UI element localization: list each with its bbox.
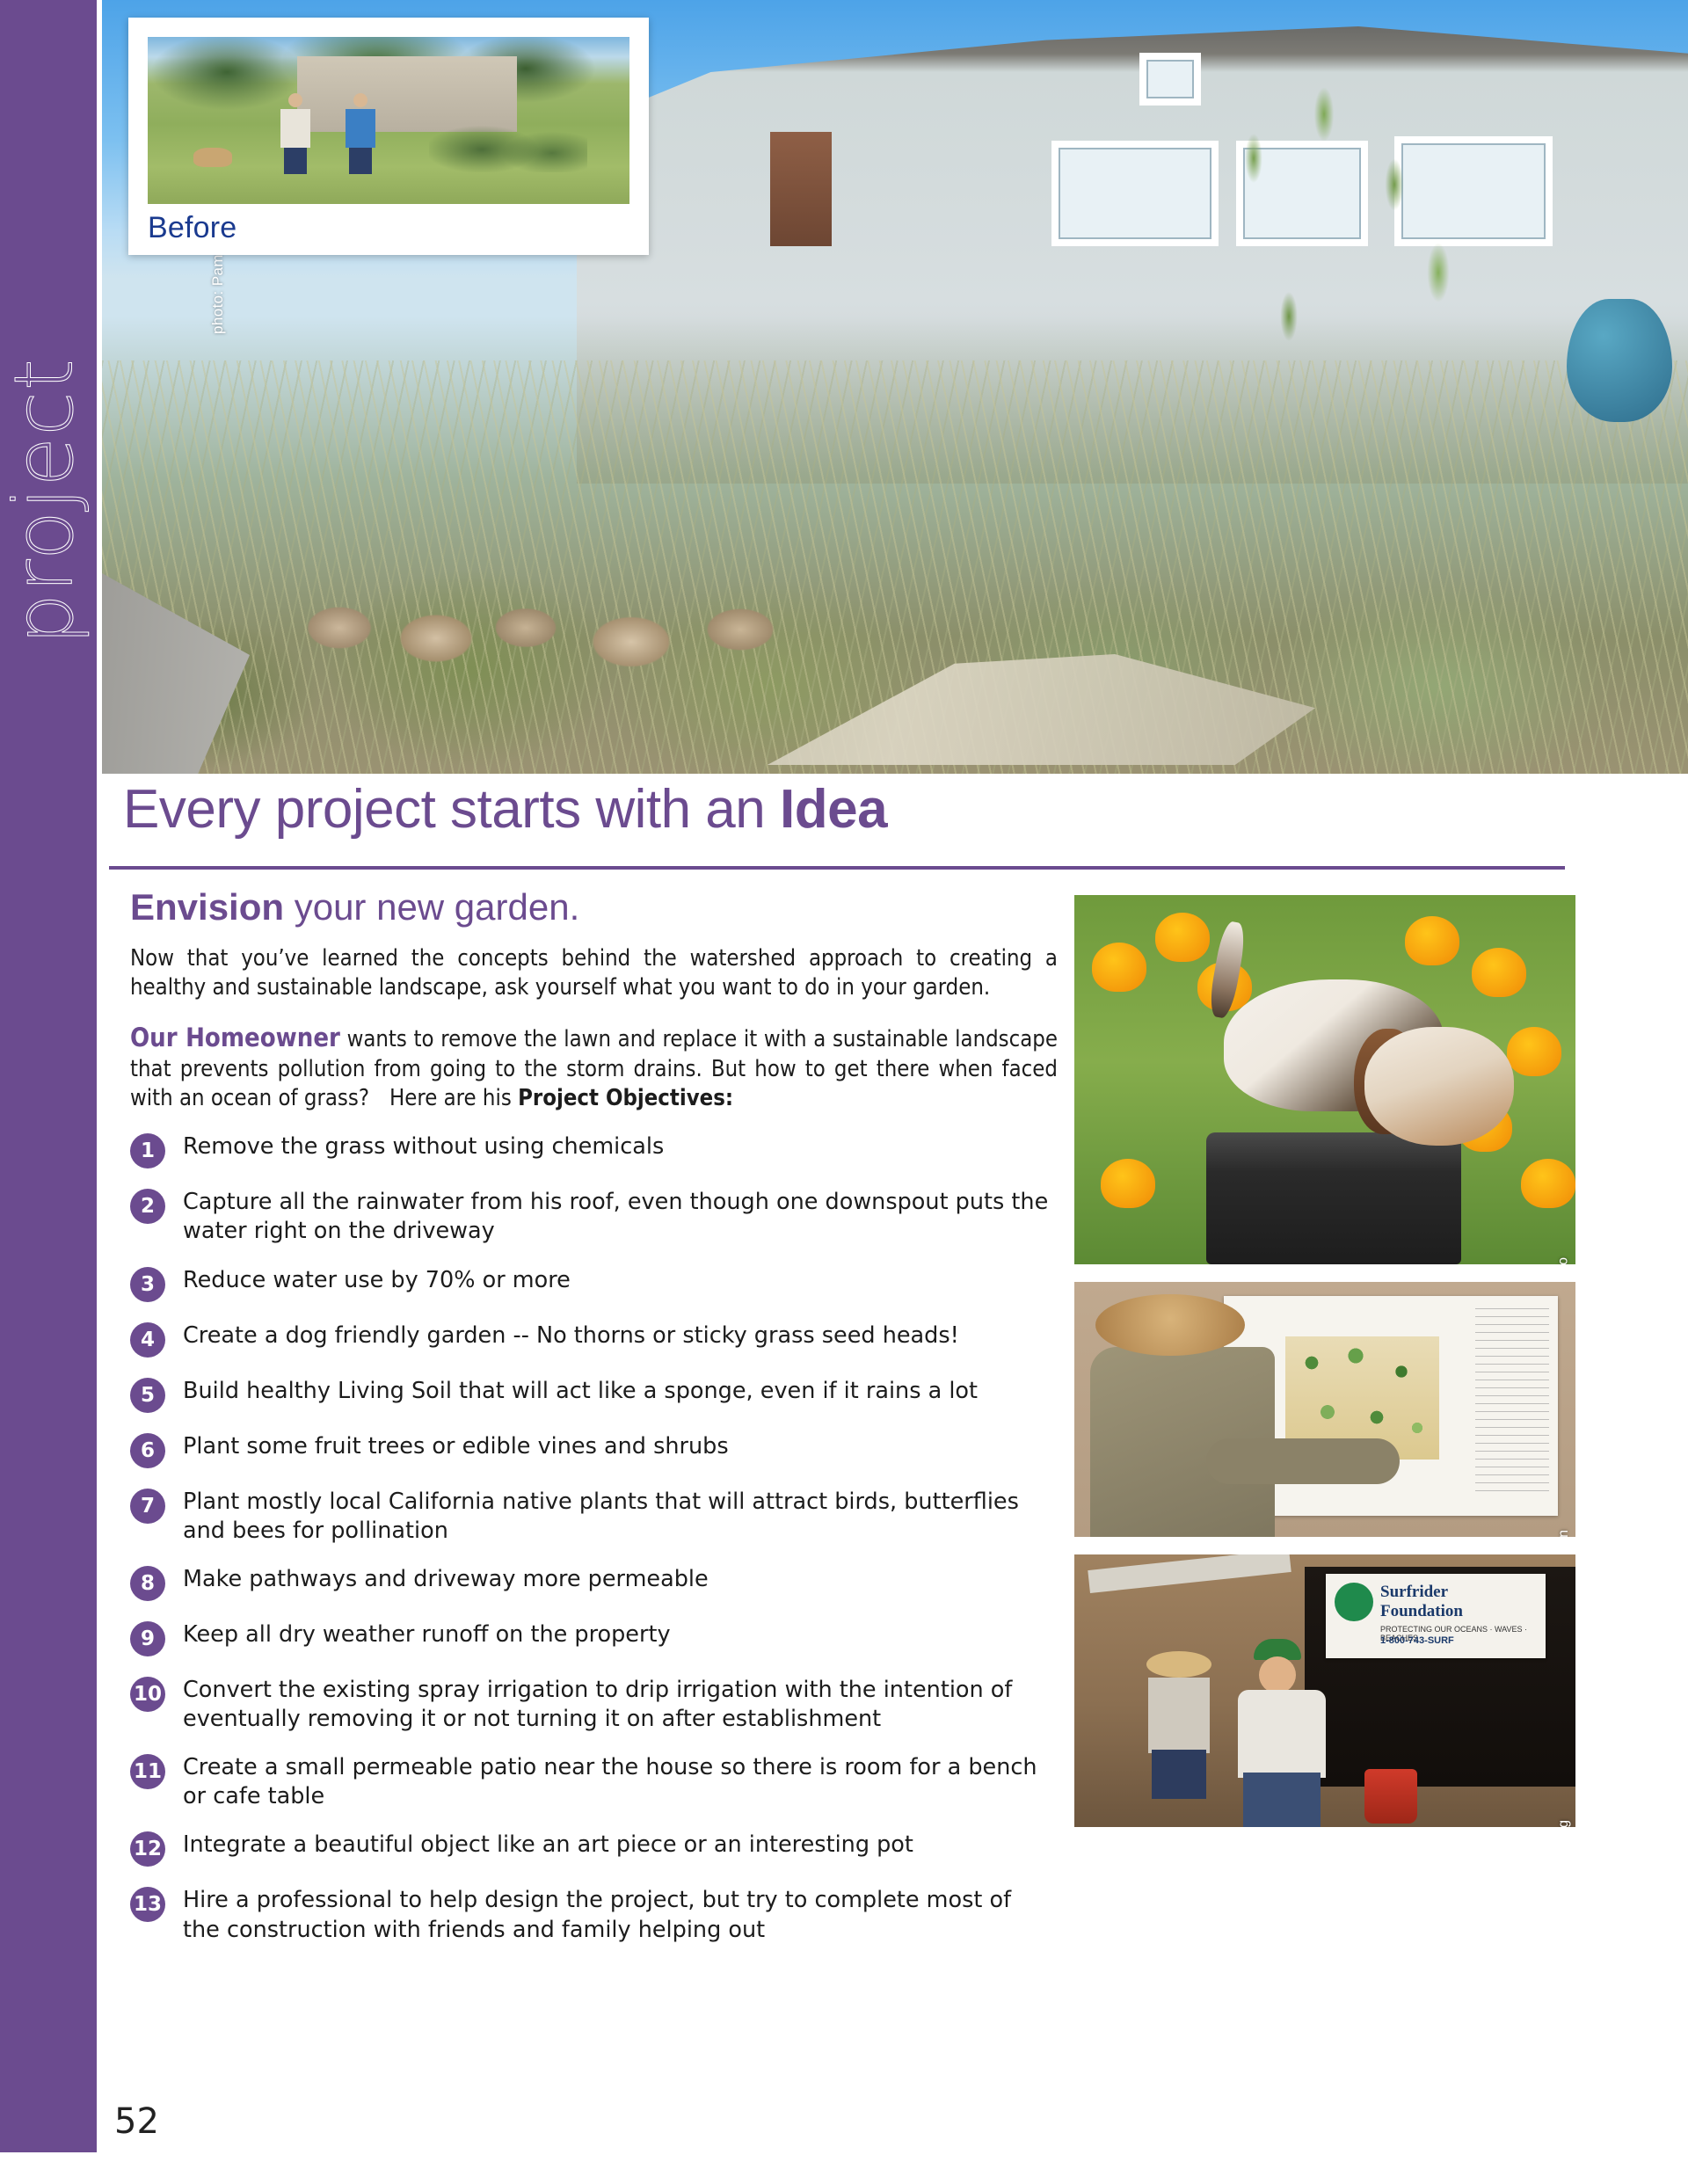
objective-number: 13 <box>130 1887 165 1922</box>
hero-rock-border <box>304 554 867 668</box>
objective-text: Make pathways and driveway more permeabl… <box>183 1565 1053 1594</box>
objective-text: Plant some fruit trees or edible vines a… <box>183 1432 1053 1461</box>
objective-number: 3 <box>130 1267 165 1302</box>
before-person-2 <box>343 93 378 174</box>
project-objectives-label: Project Objectives: <box>518 1085 733 1111</box>
hero-chimney <box>770 132 832 246</box>
list-item: 8Make pathways and driveway more permeab… <box>130 1565 1062 1601</box>
list-item: 2Capture all the rainwater from his roof… <box>130 1188 1062 1246</box>
objective-text: Convert the existing spray irrigation to… <box>183 1676 1053 1734</box>
objective-number: 4 <box>130 1322 165 1358</box>
section-subhead-rest: your new garden. <box>284 886 579 928</box>
objectives-list: 1Remove the grass without using chemical… <box>130 1132 1062 1944</box>
list-item: 5Build healthy Living Soil that will act… <box>130 1377 1062 1413</box>
objective-number: 6 <box>130 1433 165 1468</box>
hero-window-gable <box>1139 53 1201 106</box>
list-item: 7Plant mostly local California native pl… <box>130 1488 1062 1546</box>
plan-legend-lines <box>1475 1308 1549 1493</box>
objective-number: 7 <box>130 1489 165 1524</box>
objective-number: 5 <box>130 1378 165 1413</box>
poppy-flower <box>1507 1027 1561 1076</box>
volunteer-with-hat <box>1136 1651 1220 1827</box>
objective-number: 1 <box>130 1133 165 1168</box>
photo-credit: photo: www.petnet.io <box>1556 1257 1572 1264</box>
surfrider-banner: Surfrider Foundation PROTECTING OUR OCEA… <box>1326 1574 1546 1658</box>
banner-line-1: Surfrider <box>1380 1583 1448 1602</box>
poppy-flower <box>1405 916 1459 965</box>
volunteer-with-cap <box>1229 1639 1335 1827</box>
sun-hat <box>1095 1294 1245 1356</box>
intro-paragraph: Now that you’ve learned the concepts beh… <box>130 944 1058 1002</box>
objective-number: 11 <box>130 1754 165 1789</box>
photo-puppy-in-poppies: photo: www.petnet.io <box>1074 895 1575 1264</box>
list-item: 6Plant some fruit trees or edible vines … <box>130 1432 1062 1468</box>
objective-text: Capture all the rainwater from his roof,… <box>183 1188 1053 1246</box>
poppy-flower <box>1092 943 1146 992</box>
section-subhead-strong: Envision <box>130 886 284 928</box>
wave-icon <box>1335 1583 1373 1621</box>
objective-text: Plant mostly local California native pla… <box>183 1488 1053 1546</box>
before-label: Before <box>148 211 629 245</box>
page-title-emphasis: Idea <box>780 779 887 840</box>
list-item: 3Reduce water use by 70% or more <box>130 1266 1062 1302</box>
poppy-flower <box>1472 948 1526 997</box>
poppy-flower <box>1101 1159 1155 1208</box>
planter-bucket <box>1206 1132 1461 1264</box>
list-item: 1Remove the grass without using chemical… <box>130 1132 1062 1168</box>
hero-window-1 <box>1051 141 1219 246</box>
before-person-1 <box>278 93 313 174</box>
list-item: 12Integrate a beautiful object like an a… <box>130 1831 1062 1867</box>
main-content: Envision your new garden. Now that you’v… <box>130 886 1062 1964</box>
poppy-flower <box>1521 1159 1575 1208</box>
list-item: 9Keep all dry weather runoff on the prop… <box>130 1620 1062 1656</box>
objective-number: 10 <box>130 1677 165 1712</box>
section-subhead: Envision your new garden. <box>130 886 1062 928</box>
homeowner-paragraph: Our Homeowner wants to remove the lawn a… <box>130 1022 1058 1113</box>
objective-number: 2 <box>130 1189 165 1224</box>
objective-text: Integrate a beautiful object like an art… <box>183 1831 1053 1860</box>
homeowner-lead: Our Homeowner <box>130 1023 340 1052</box>
list-item: 4Create a dog friendly garden -- No thor… <box>130 1321 1062 1358</box>
list-item: 11Create a small permeable patio near th… <box>130 1753 1062 1811</box>
red-bucket <box>1364 1769 1417 1824</box>
spine-label: project <box>0 0 91 645</box>
document-page: project photo: Pamela Berstler <box>0 0 1688 2184</box>
photo-credit: photo: Jeremy Sison <box>1556 1530 1572 1537</box>
objective-text: Build healthy Living Soil that will act … <box>183 1377 1053 1406</box>
before-photo-card: Before <box>128 18 649 255</box>
before-photo <box>148 37 629 204</box>
objective-text: Keep all dry weather runoff on the prope… <box>183 1620 1053 1649</box>
objective-text: Reduce water use by 70% or more <box>183 1266 1053 1295</box>
objective-text: Create a small permeable patio near the … <box>183 1753 1053 1811</box>
before-shrub <box>429 114 587 172</box>
photo-designer-with-plan: photo: Jeremy Sison <box>1074 1282 1575 1537</box>
objective-number: 12 <box>130 1831 165 1867</box>
poppy-flower <box>1155 913 1210 962</box>
objective-text: Remove the grass without using chemicals <box>183 1132 1053 1161</box>
photo-rail: photo: www.petnet.io photo: Jeremy Sison… <box>1074 895 1575 1845</box>
photo-credit: photo: Paul Herzog <box>1556 1820 1572 1827</box>
puppy-head <box>1364 1027 1514 1146</box>
before-dog <box>193 148 232 167</box>
objective-number: 9 <box>130 1621 165 1656</box>
objective-text: Hire a professional to help design the p… <box>183 1886 1053 1944</box>
objective-number: 8 <box>130 1566 165 1601</box>
page-title: Every project starts with an Idea <box>123 783 1565 858</box>
page-number: 52 <box>114 2101 159 2142</box>
designer-arm <box>1206 1438 1400 1484</box>
objective-text: Create a dog friendly garden -- No thorn… <box>183 1321 1053 1350</box>
list-item: 13Hire a professional to help design the… <box>130 1886 1062 1944</box>
banner-line-2: Foundation <box>1380 1602 1463 1621</box>
banner-line-4: 1-800-743-SURF <box>1380 1635 1454 1646</box>
sidebar-spine: project <box>0 0 97 2152</box>
list-item: 10Convert the existing spray irrigation … <box>130 1676 1062 1734</box>
page-title-lead: Every project starts with an <box>123 779 780 840</box>
photo-garage-surfrider: Surfrider Foundation PROTECTING OUR OCEA… <box>1074 1554 1575 1827</box>
title-divider <box>109 866 1565 870</box>
hero-blue-pot <box>1567 299 1672 422</box>
